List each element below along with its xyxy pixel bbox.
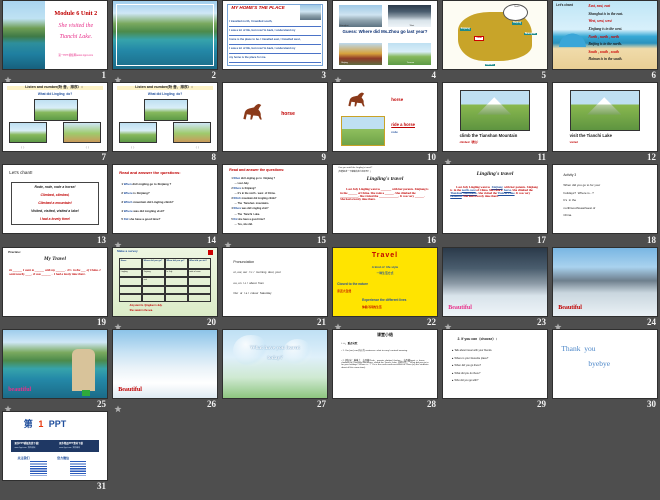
slide-cell-11[interactable]: climb the Tianshan Mountainclimbed（爬山）11 (440, 82, 550, 164)
slide-thumbnail-26[interactable]: Beautiful (113, 330, 217, 398)
slide-canvas: beautiful (3, 330, 107, 398)
slide-number-28: 28 (427, 399, 436, 409)
slide-cell-7[interactable]: Listen and number(听 音、排序）：What did Lingl… (0, 82, 110, 164)
slide-number-23: 23 (537, 317, 546, 327)
slide-canvas: 2. If you can（choose）：▲ Talk about trave… (443, 330, 547, 398)
chant-line-8: Hainan is in the south. (588, 58, 655, 62)
compass-label: North (507, 6, 526, 8)
slide-cell-5[interactable]: NorthXinjiangTibetBeijingShanghaiHainan5 (440, 0, 550, 82)
survey-cell-3-2 (142, 286, 165, 294)
title-line-3: Tianchi Lake. (47, 34, 105, 40)
practice-kicker: Practice: (8, 251, 21, 254)
slide-canvas: What have you learnttoday? (223, 330, 327, 398)
survey-cell-4-2 (142, 294, 165, 302)
slide-thumbnail-11[interactable]: climb the Tianshan Mountainclimbed（爬山） (443, 83, 547, 151)
map-label-xinjiang: Xinjiang (460, 28, 471, 31)
slide-canvas: Thank youbyebye (553, 330, 657, 398)
pronunciation-line-1: or, oor, our / ɔ: / morning door, your (233, 271, 320, 274)
brand-caption-1: 关注我们 (18, 457, 30, 460)
brand-bar-1: 更多PPT模板免费下载！ (14, 443, 40, 446)
slide-meta-20: 20 (110, 316, 220, 328)
slide-thumbnail-27[interactable]: What have you learnttoday? (223, 330, 327, 398)
slide-thumbnail-15[interactable]: Read and answer the questions:1 When did… (223, 165, 327, 233)
answer-1: --- Last July. (234, 183, 322, 186)
slide-meta-30: 30 (550, 398, 660, 410)
slide-thumbnail-19[interactable]: Practice:My TravelIn ______ I went to __… (3, 248, 107, 316)
slide-thumbnail-6[interactable]: Let's chantEast, east, eastShanghai is i… (553, 1, 657, 69)
question-3: 3 Which mountain did Lingling climb? (231, 198, 323, 201)
slide-canvas: Activity 3When did you go to for yourhol… (553, 165, 657, 233)
slide-number-7: 7 (102, 152, 107, 162)
activity-line-1: When did you go to for your (563, 184, 650, 187)
guess-question: Guess: Where did Ms.Zhou go last year? (337, 30, 433, 35)
slide-cell-8[interactable]: Listen and number(听 音、排序）：What did Lingl… (110, 82, 220, 164)
question-5: 5 Did she have a good time? (121, 218, 213, 221)
question-4: 4 Where was did Lingling visit? (121, 210, 213, 213)
brand-bar-2-sub: www.1ppt.com 我的素材 (59, 447, 80, 449)
animation-star-icon (114, 318, 122, 326)
slide-number-26: 26 (207, 399, 216, 409)
question-1: 1 When did Lingling go to Xinjiang ? (121, 183, 213, 186)
slide-canvas (113, 1, 217, 69)
slide-row: Listen and number(听 音、排序）：What did Lingl… (0, 82, 660, 164)
slide-row: Module 6 Unit 2She visited theTianchi La… (0, 0, 660, 82)
slide-cell-2[interactable]: 2 (110, 0, 220, 82)
slide-meta-28: 28 (330, 398, 440, 410)
slide-thumbnail-24[interactable]: Beautiful (553, 248, 657, 316)
slide-row: Practice:My TravelIn ______ I went to __… (0, 247, 660, 329)
slide-cell-18[interactable]: Activity 3When did you go to for yourhol… (550, 164, 660, 246)
homework-item-5: ▲ Who did you go with? (451, 380, 540, 383)
slide-thumbnail-18[interactable]: Activity 3When did you go to for yourhol… (553, 165, 657, 233)
photo-caption-4: Yunnan (407, 62, 414, 64)
photo-caption-1: Shanghai (339, 25, 348, 27)
slide-number-22: 22 (427, 317, 436, 327)
practice-body: In ______ I went to ______ with my _____… (9, 269, 101, 275)
slide-canvas: Beautiful (553, 248, 657, 316)
travel-bullet-2: Experience the different lives (362, 299, 406, 302)
title-line-1: Module 6 Unit 2 (47, 11, 105, 18)
summary-bullet-1: • 1. You (we) can/(句) 的 sentences: what … (341, 350, 430, 352)
animation-star-icon (334, 318, 342, 326)
slide-cell-26[interactable]: Beautiful26 (110, 329, 220, 411)
slide-number-15: 15 (317, 235, 326, 245)
slide-number-11: 11 (537, 152, 546, 162)
slide-number-9: 9 (322, 152, 327, 162)
slide-cell-12[interactable]: visit the Tianchi Lakevisited12 (550, 82, 660, 164)
slide-thumbnail-29[interactable]: 2. If you can（choose）：▲ Talk about trave… (443, 330, 547, 398)
answer-3: --- The Tianshan mountains. (234, 203, 322, 206)
slide-number-19: 19 (97, 317, 106, 327)
thanks-line-1: Thank you (561, 345, 595, 353)
pronunciation-head: Pronunciation (233, 261, 254, 265)
survey-cell-3-1 (119, 286, 142, 294)
slide-cell-23[interactable]: Beautiful23 (440, 247, 550, 329)
past-tense-note: visited (570, 142, 578, 145)
slide-thumbnail-7[interactable]: Listen and number(听 音、排序）：What did Lingl… (3, 83, 107, 151)
survey-cell-4-4 (188, 294, 211, 302)
phrase-label: visit the Tianchi Lake (570, 134, 645, 138)
slide-canvas: Module 6 Unit 2She visited theTianchi La… (3, 1, 107, 69)
chant-line-3: West, west, west (588, 20, 655, 24)
question-1: 1 When did Lingling go to Xinjiang ? (231, 178, 323, 181)
survey-cell-1-4: rode a horse (188, 269, 211, 277)
question-3: 3 Which mountain did Lingling climb? (121, 201, 213, 204)
slide-number-8: 8 (212, 152, 217, 162)
slide-cell-31[interactable]: 第1PPT更多PPT模板免费下载！www.1ppt.com 我的模板更多精品PP… (0, 411, 110, 493)
title-line-2: She visited the (47, 23, 105, 29)
answer-2: --- It's in the north - west of China. (234, 193, 322, 196)
past-tense-note: rode (391, 131, 398, 134)
cloze-title: Lingling's travel (338, 177, 432, 183)
activity-line-3: It's in the (563, 199, 650, 202)
survey-cell-4-1 (119, 294, 142, 302)
title-photo (3, 1, 45, 69)
chant-line-2: Shanghai is in the east. (588, 13, 655, 17)
slide-meta-6: 6 (550, 69, 660, 81)
chant-line-1: East, east, east (588, 5, 655, 9)
animation-star-icon (4, 400, 12, 408)
slide-cell-6[interactable]: Let's chantEast, east, eastShanghai is i… (550, 0, 660, 82)
brand-num: 1 (38, 420, 43, 429)
beautiful-caption: beautiful (8, 387, 31, 393)
photo-caption-3: Beijing (341, 62, 348, 64)
slide-thumbnail-16[interactable]: Can you retell the Lingling's travel?(你能… (333, 165, 437, 233)
slide-canvas: Let's chantEast, east, eastShanghai is i… (553, 1, 657, 69)
slide-cell-30[interactable]: Thank youbyebye30 (550, 329, 660, 411)
slide-cell-17[interactable]: Lingling's travelLast July Lingling went… (440, 164, 550, 246)
animation-star-icon (444, 153, 452, 161)
map-label-shanghai: Shanghai (524, 33, 537, 36)
slide-number-10: 10 (427, 152, 436, 162)
travel-bullet-1: Closed to the nature (337, 283, 368, 286)
slide-canvas: 课堂小结• 一、重点句型：• 1. You (we) can/(句) 的 sen… (333, 330, 437, 398)
slide-meta-14: 14 (110, 234, 220, 246)
survey-col-4: What did you do? (188, 258, 211, 269)
slide-sorter-pane[interactable]: Module 6 Unit 2She visited theTianchi La… (0, 0, 660, 411)
slide-meta-2: 2 (110, 69, 220, 81)
slide-meta-29: 29 (440, 398, 550, 410)
slide-meta-9: 9 (220, 151, 330, 163)
survey-cell-2-2: visit (142, 277, 165, 285)
chant-line-2: Climbed, climbed, (13, 194, 96, 198)
slide-thumbnail-25[interactable]: beautiful (3, 330, 107, 398)
question-5: 5 Did she have a good time? (231, 219, 323, 222)
slide-canvas: Practice:My TravelIn ______ I went to __… (3, 248, 107, 316)
animation-star-icon (554, 318, 562, 326)
slide-meta-5: 5 (440, 69, 550, 81)
slide-canvas: Listen and number(听 音、排序）：What did Lingl… (113, 83, 217, 151)
slide-number-17: 17 (537, 235, 546, 245)
survey-cell-1-1: Lingling (119, 269, 142, 277)
slide-number-1: 1 (102, 70, 107, 80)
slide-meta-17: 17 (440, 234, 550, 246)
chant-line-4: Xinjiang is in the west. (588, 28, 655, 32)
chant-line-1: Rode, rode, rode a horse! (13, 186, 96, 190)
homework-title: 2. If you can（choose）： (458, 338, 500, 342)
slide-thumbnail-22[interactable]: TravelA kind of life style一种生活方式Closed t… (333, 248, 437, 316)
survey-cell-2-4 (188, 277, 211, 285)
slide-thumbnail-14[interactable]: Read and answer the questions:1 When did… (113, 165, 217, 233)
slide-canvas: Read and answer the questions:1 When did… (113, 165, 217, 233)
slide-number-14: 14 (207, 235, 216, 245)
survey-footer-2: She swam in the sea. (130, 310, 203, 312)
travel-title: Travel (338, 252, 432, 259)
slide-number-16: 16 (427, 235, 436, 245)
animation-star-icon (114, 71, 122, 79)
listen-title: Listen and number(听 音、排序）： (7, 86, 103, 90)
slide-meta-23: 23 (440, 316, 550, 328)
slide-row: 第1PPT更多PPT模板免费下载！www.1ppt.com 我的模板更多精品PP… (0, 411, 660, 493)
survey-footer-1: Amy went to Qingdao in July. (130, 305, 203, 307)
chant-line-5: North , north , north (588, 36, 655, 40)
travel-sub-1: A kind of life style (338, 266, 432, 269)
slide-meta-10: 10 (330, 151, 440, 163)
animation-star-icon (114, 236, 122, 244)
song-title: MY HOME'S THE PLACE (231, 6, 284, 11)
slide-thumbnail-5[interactable]: NorthXinjiangTibetBeijingShanghaiHainan (443, 1, 547, 69)
brand-en: PPT (49, 420, 67, 429)
slide-cell-22[interactable]: TravelA kind of life style一种生活方式Closed t… (330, 247, 440, 329)
past-tense-note: climbed（爬山） (460, 142, 480, 145)
listen-answer-box-1: （ ） (20, 147, 26, 150)
slide-thumbnail-3[interactable]: MY HOME'S THE PLACEI travelled north, I … (223, 1, 327, 69)
chant-line-7: South , south , south (588, 51, 655, 55)
learnt-line-1: What have you learnt (229, 346, 321, 352)
slide-cell-9[interactable]: horse9 (220, 82, 330, 164)
slide-meta-15: 15 (220, 234, 330, 246)
slide-thumbnail-30[interactable]: Thank youbyebye (553, 330, 657, 398)
horse-illustration (237, 101, 268, 124)
cloze-title: Lingling's travel (448, 172, 542, 178)
slide-thumbnail-17[interactable]: Lingling's travelLast July Lingling went… (443, 165, 547, 233)
slide-row: Let's chant!Rode, rode, rode a horse!Cli… (0, 164, 660, 246)
slide-cell-15[interactable]: Read and answer the questions:1 When did… (220, 164, 330, 246)
slide-cell-4[interactable]: ShanghaiTibetGuess: Where did Ms.Zhou go… (330, 0, 440, 82)
cloze-kicker-cn: (你能复述一下琳琳的旅行经历吗？) (338, 171, 432, 173)
slide-canvas: Beautiful (443, 248, 547, 316)
beautiful-caption: Beautiful (558, 305, 582, 311)
slide-canvas: ShanghaiTibetGuess: Where did Ms.Zhou go… (333, 1, 437, 69)
map-label-tibet: Tibet (474, 36, 484, 41)
slide-number-29: 29 (537, 399, 546, 409)
slide-canvas: Make a surveyNameWhere did you go?When d… (113, 248, 217, 316)
cloze-body: Last July Lingling went to _______ with … (340, 188, 429, 201)
travel-bullet-2-cn: 体验不同的生活 (362, 306, 382, 309)
slide-canvas: Let's chant!Rode, rode, rode a horse!Cli… (3, 165, 107, 233)
animation-star-icon (4, 71, 12, 79)
slide-thumbnail-12[interactable]: visit the Tianchi Lakevisited (553, 83, 657, 151)
cloze-kicker: Can you retell the Lingling's travel? (338, 167, 432, 169)
slide-meta-18: 18 (550, 234, 660, 246)
slide-number-2: 2 (212, 70, 217, 80)
slide-cell-16[interactable]: Can you retell the Lingling's travel?(你能… (330, 164, 440, 246)
slide-number-13: 13 (97, 235, 106, 245)
slide-cell-3[interactable]: MY HOME'S THE PLACEI travelled north, I … (220, 0, 330, 82)
slide-number-3: 3 (322, 70, 327, 80)
practice-title: My Travel (8, 257, 102, 262)
slide-number-20: 20 (207, 317, 216, 327)
slide-thumbnail-13[interactable]: Let's chant!Rode, rode, rode a horse!Cli… (3, 165, 107, 233)
slide-canvas: Lingling's travelLast July Lingling went… (443, 165, 547, 233)
slide-cell-1[interactable]: Module 6 Unit 2She visited theTianchi La… (0, 0, 110, 82)
slide-cell-19[interactable]: Practice:My TravelIn ______ I went to __… (0, 247, 110, 329)
slide-meta-27: 27 (220, 398, 330, 410)
survey-cell-3-4 (188, 286, 211, 294)
listen-title: Listen and number(听 音、排序）： (117, 86, 213, 90)
slide-meta-4: 4 (330, 69, 440, 81)
activity-line-2: holidays? Where is...? (563, 192, 650, 195)
question-4: 4 Where was did Lingling visit? (231, 208, 323, 211)
slide-cell-29[interactable]: 2. If you can（choose）：▲ Talk about trave… (440, 329, 550, 411)
slide-canvas: NorthXinjiangTibetBeijingShanghaiHainan (443, 1, 547, 69)
pronunciation-line-3: Our ur / ə / colour Saturday (233, 292, 320, 295)
question-2: 2 Where is Xinjiang? (121, 192, 213, 195)
summary-bullet-0: • 一、重点句型： (341, 343, 359, 346)
slide-canvas: Can you retell the Lingling's travel?(你能… (333, 165, 437, 233)
slide-cell-25[interactable]: beautiful25 (0, 329, 110, 411)
slide-meta-1: 1 (0, 69, 110, 81)
animation-star-icon (114, 400, 122, 408)
brand-bar-1-sub: www.1ppt.com 我的模板 (14, 447, 35, 449)
survey-cell-2-1 (119, 277, 142, 285)
slide-meta-8: 8 (110, 151, 220, 163)
phrase-label: climb the Tianshan Mountain (460, 134, 535, 138)
slide-meta-19: 19 (0, 316, 110, 328)
summary-title: 课堂小结 (338, 333, 432, 337)
map-label-beijing: Beijing (512, 22, 522, 25)
slide-meta-21: 21 (220, 316, 330, 328)
word-label: horse (391, 98, 403, 103)
chant-line-3: Climbed a mountain! (13, 202, 96, 206)
slide-canvas: horse (223, 83, 327, 151)
slide-number-30: 30 (647, 399, 656, 409)
slide-thumbnail-1[interactable]: Module 6 Unit 2She visited theTianchi La… (3, 1, 107, 69)
survey-cell-3-3 (165, 286, 188, 294)
slide-cell-20[interactable]: Make a surveyNameWhere did you go?When d… (110, 247, 220, 329)
animation-star-icon (444, 318, 452, 326)
listen-subtitle: What did Lingling do? (117, 93, 213, 96)
slide-cell-24[interactable]: Beautiful24 (550, 247, 660, 329)
slide-thumbnail-28[interactable]: 课堂小结• 一、重点句型：• 1. You (we) can/(句) 的 sen… (333, 330, 437, 398)
word-label: horse (281, 112, 295, 117)
slide-thumbnail-9[interactable]: horse (223, 83, 327, 151)
slide-canvas: Pronunciationor, oor, our / ɔ: / morning… (223, 248, 327, 316)
slide-number-27: 27 (317, 399, 326, 409)
slide-row: beautiful25Beautiful26What have you lear… (0, 329, 660, 411)
homework-item-3: ▲ When did you go there? (451, 365, 540, 368)
lyric-line-5: my home is the place for me. (229, 57, 321, 60)
chant-head: Let's chant! (9, 171, 32, 176)
slide-thumbnail-21[interactable]: Pronunciationor, oor, our / ɔ: / morning… (223, 248, 327, 316)
slide-meta-25: 25 (0, 398, 110, 410)
survey-col-2: Where did you go? (142, 258, 165, 269)
animation-star-icon (224, 236, 232, 244)
slide-cell-14[interactable]: Read and answer the questions:1 When did… (110, 164, 220, 246)
activity-head: Activity 3 (563, 174, 576, 177)
slide-thumbnail-23[interactable]: Beautiful (443, 248, 547, 316)
survey-cell-2-3 (165, 277, 188, 285)
slide-meta-13: 13 (0, 234, 110, 246)
slide-canvas: visit the Tianchi Lakevisited (553, 83, 657, 151)
survey-cell-4-3 (165, 294, 188, 302)
horse-illustration (343, 90, 370, 110)
slide-number-25: 25 (97, 399, 106, 409)
slide-thumbnail-10[interactable]: horseride a horserode (333, 83, 437, 151)
slide-canvas: Listen and number(听 音、排序）：What did Lingl… (3, 83, 107, 151)
chant-line-4: Visited, visited, visited a lake! (13, 210, 96, 214)
pronunciation-line-2: ou, on / ʌ / about from (233, 282, 320, 285)
photo-caption-2: Tibet (409, 25, 414, 27)
slide-canvas: 第1PPT更多PPT模板免费下载！www.1ppt.com 我的模板更多精品PP… (3, 412, 107, 480)
slide-number-24: 24 (647, 317, 656, 327)
slide-canvas: TravelA kind of life style一种生活方式Closed t… (333, 248, 437, 316)
slide-number-31: 31 (97, 481, 106, 491)
survey-head: Make a survey (117, 250, 138, 253)
slide-meta-11: 11 (440, 151, 550, 163)
slide-canvas: climb the Tianshan Mountainclimbed（爬山） (443, 83, 547, 151)
slide-cell-21[interactable]: Pronunciationor, oor, our / ɔ: / morning… (220, 247, 330, 329)
thanks-line-2: byebye (588, 360, 610, 368)
chant-line-6: Beijing is in the north. (588, 43, 655, 47)
survey-cell-1-3: In July (165, 269, 188, 277)
slide-cell-13[interactable]: Let's chant!Rode, rode, rode a horse!Cli… (0, 164, 110, 246)
listen-answer-box-2: （ ） (194, 147, 200, 150)
summary-bullet-2: • 2. 例如句：琳琳上、去西藏/Peak、parents climbed th… (341, 360, 430, 369)
question-2: 2 Where is Xinjiang? (231, 188, 323, 191)
answer-5: --- Yes, she did. (234, 224, 322, 227)
travel-bullet-1-cn: 亲近大自然 (337, 290, 351, 293)
slide-cell-28[interactable]: 课堂小结• 一、重点句型：• 1. You (we) can/(句) 的 sen… (330, 329, 440, 411)
word-photo (570, 90, 641, 131)
word-photo (460, 90, 531, 131)
slide-thumbnail-20[interactable]: Make a surveyNameWhere did you go?When d… (113, 248, 217, 316)
activity-line-4: north/south/east/west of (563, 207, 650, 210)
beautiful-caption: Beautiful (118, 387, 142, 393)
slide-cell-10[interactable]: horseride a horserode10 (330, 82, 440, 164)
slide-thumbnail-2[interactable] (113, 1, 217, 69)
questions-title: Read and answer the questions: (229, 169, 323, 173)
survey-col-1: Name (119, 258, 142, 269)
slide-meta-12: 12 (550, 151, 660, 163)
listen-subtitle: What did Lingling do? (7, 93, 103, 96)
travel-sub-2: 一种生活方式 (338, 272, 432, 275)
slide-meta-26: 26 (110, 398, 220, 410)
slide-meta-24: 24 (550, 316, 660, 328)
chant-head: Let's chant (556, 4, 573, 7)
survey-cell-1-2: Xinjiang (142, 269, 165, 277)
slide-meta-22: 22 (330, 316, 440, 328)
brand-caption-2: 官方微信 (57, 457, 69, 460)
lyric-line-4: I saw a lot of life, but now I'm back, I… (229, 48, 321, 51)
slide-canvas: horseride a horserode (333, 83, 437, 151)
animation-star-icon (334, 71, 342, 79)
slide-number-4: 4 (432, 70, 437, 80)
slide-number-18: 18 (647, 235, 656, 245)
slide-number-6: 6 (652, 70, 657, 80)
lyric-line-2: I saw a lot of life, but now I'm back, I… (229, 30, 321, 33)
questions-title: Read and answer the questions: (119, 171, 213, 175)
slide-thumbnail-4[interactable]: ShanghaiTibetGuess: Where did Ms.Zhou go… (333, 1, 437, 69)
full-photo (116, 4, 214, 67)
slide-thumbnail-8[interactable]: Listen and number(听 音、排序）：What did Lingl… (113, 83, 217, 151)
slide-meta-16: 16 (330, 234, 440, 246)
slide-number-5: 5 (542, 70, 547, 80)
slide-meta-31: 31 (0, 480, 110, 492)
slide-cell-27[interactable]: What have you learnttoday?27 (220, 329, 330, 411)
slide-thumbnail-31[interactable]: 第1PPT更多PPT模板免费下载！www.1ppt.com 我的模板更多精品PP… (3, 412, 107, 480)
homework-item-1: ▲ Talk about travel with your friends. (451, 350, 540, 353)
